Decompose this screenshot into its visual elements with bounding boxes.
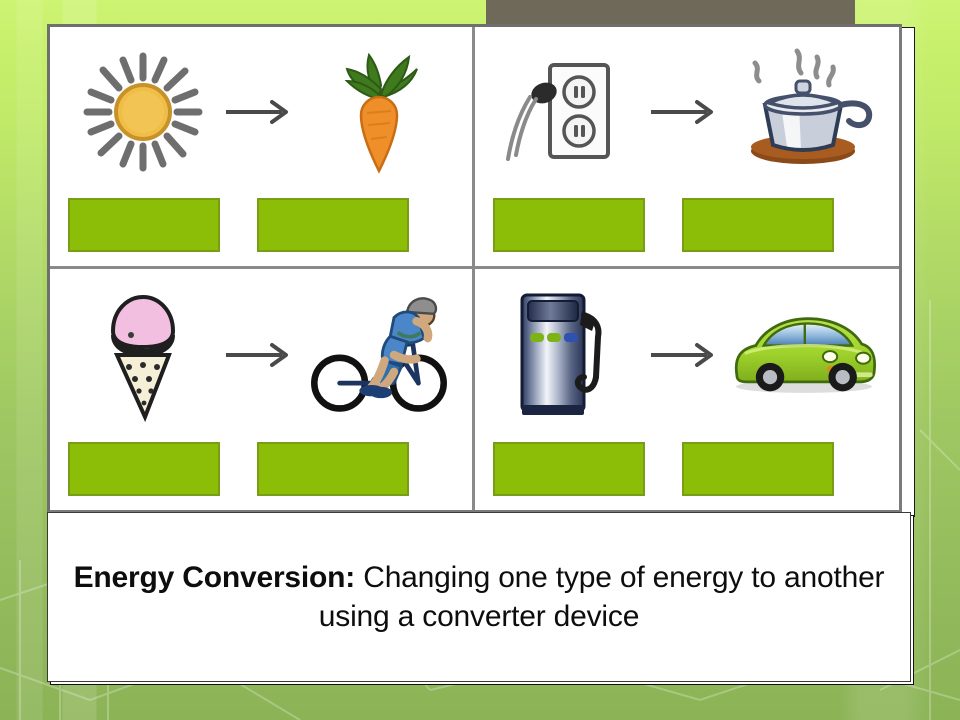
- source-label-box[interactable]: [493, 442, 645, 496]
- label-row: [50, 436, 472, 510]
- icon-row: [50, 269, 472, 437]
- label-row: [475, 436, 900, 510]
- cyclist-icon: [304, 280, 454, 430]
- top-accent-bar: [486, 0, 855, 27]
- slide-canvas: Energy Conversion: Changing one type of …: [0, 0, 960, 720]
- arrow-right-icon: [218, 99, 304, 125]
- icon-row: [475, 269, 900, 437]
- arrow-right-icon: [218, 342, 304, 368]
- source-label-box[interactable]: [68, 442, 220, 496]
- icon-row: [50, 27, 472, 192]
- worksheet-cell-sun-to-carrot: [50, 27, 475, 269]
- caption-panel: Energy Conversion: Changing one type of …: [47, 512, 911, 682]
- sun-icon: [68, 37, 218, 187]
- green-car-icon: [729, 280, 879, 430]
- result-label-box[interactable]: [257, 198, 409, 252]
- result-label-box[interactable]: [682, 198, 834, 252]
- arrow-right-icon: [643, 342, 729, 368]
- steaming-pot-icon: [729, 37, 879, 187]
- arrow-right-icon: [643, 99, 729, 125]
- caption-definition: Changing one type of energy to another u…: [319, 561, 885, 633]
- result-label-box[interactable]: [257, 442, 409, 496]
- label-row: [475, 192, 900, 266]
- carrot-icon: [304, 37, 454, 187]
- gas-pump-icon: [493, 280, 643, 430]
- electrical-outlet-plug-icon: [493, 37, 643, 187]
- icon-row: [475, 27, 900, 192]
- result-label-box[interactable]: [682, 442, 834, 496]
- worksheet-cell-icecream-to-cyclist: [50, 269, 475, 511]
- ice-cream-cone-icon: [68, 280, 218, 430]
- worksheet-cell-outlet-to-pot: [475, 27, 900, 269]
- worksheet-grid: [47, 24, 902, 513]
- source-label-box[interactable]: [68, 198, 220, 252]
- label-row: [50, 192, 472, 266]
- source-label-box[interactable]: [493, 198, 645, 252]
- caption-text: Energy Conversion: Changing one type of …: [72, 558, 886, 636]
- worksheet-cell-gaspump-to-car: [475, 269, 900, 511]
- caption-term: Energy Conversion:: [74, 561, 355, 594]
